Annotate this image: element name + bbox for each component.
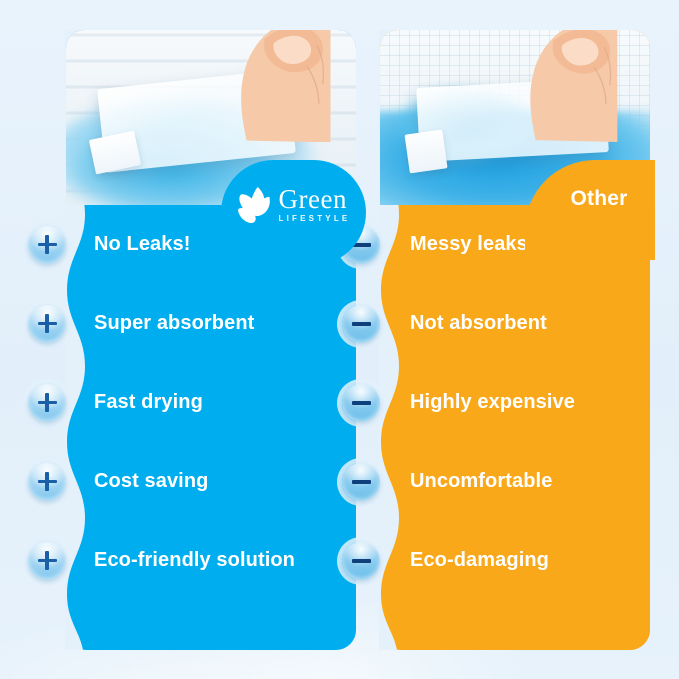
list-item[interactable]: Eco-damaging (380, 521, 650, 600)
list-item[interactable]: Super absorbent (66, 284, 356, 363)
brand-wordmark: Green LIFESTYLE (279, 186, 351, 223)
list-item-label: Super absorbent (94, 312, 254, 335)
list-item[interactable]: Fast drying (66, 363, 356, 442)
hand-icon (507, 30, 637, 142)
hand-icon (217, 30, 350, 142)
leaf-icon (237, 185, 273, 225)
list-item[interactable]: Not absorbent (380, 284, 650, 363)
wipe-sheet-corner (405, 129, 448, 172)
list-item-label: Cost saving (94, 470, 208, 493)
list-item[interactable]: Uncomfortable (380, 442, 650, 521)
list-item[interactable]: Highly expensive (380, 363, 650, 442)
plus-icon (28, 305, 66, 343)
other-feature-list: Messy leaks! Not absorbent Highly expens… (380, 205, 650, 600)
list-item-label: No Leaks! (94, 233, 191, 256)
plus-icon (28, 463, 66, 501)
brand-panel: Green LIFESTYLE No Leaks! Super absorben… (66, 30, 356, 650)
brand-subtitle: LIFESTYLE (279, 215, 351, 223)
list-item-label: Fast drying (94, 391, 203, 414)
other-panel: Other Messy leaks! Not absorbent Highly … (380, 30, 650, 650)
list-item-label: Messy leaks! (410, 233, 535, 256)
minus-icon (342, 542, 380, 580)
minus-icon (342, 305, 380, 343)
list-item-label: Not absorbent (410, 312, 547, 335)
list-item-label: Uncomfortable (410, 470, 552, 493)
other-label: Other (570, 187, 627, 211)
plus-icon (28, 226, 66, 264)
brand-logo-badge: Green LIFESTYLE (221, 160, 366, 265)
list-item-label: Highly expensive (410, 391, 575, 414)
minus-icon (342, 463, 380, 501)
plus-icon (28, 384, 66, 422)
comparison-board: Green LIFESTYLE No Leaks! Super absorben… (0, 0, 679, 679)
brand-name: Green (279, 186, 347, 213)
list-item-label: Eco-friendly solution (94, 549, 295, 572)
list-item[interactable]: Cost saving (66, 442, 356, 521)
minus-icon (342, 384, 380, 422)
list-item-label: Eco-damaging (410, 549, 549, 572)
plus-icon (28, 542, 66, 580)
list-item[interactable]: Eco-friendly solution (66, 521, 356, 600)
